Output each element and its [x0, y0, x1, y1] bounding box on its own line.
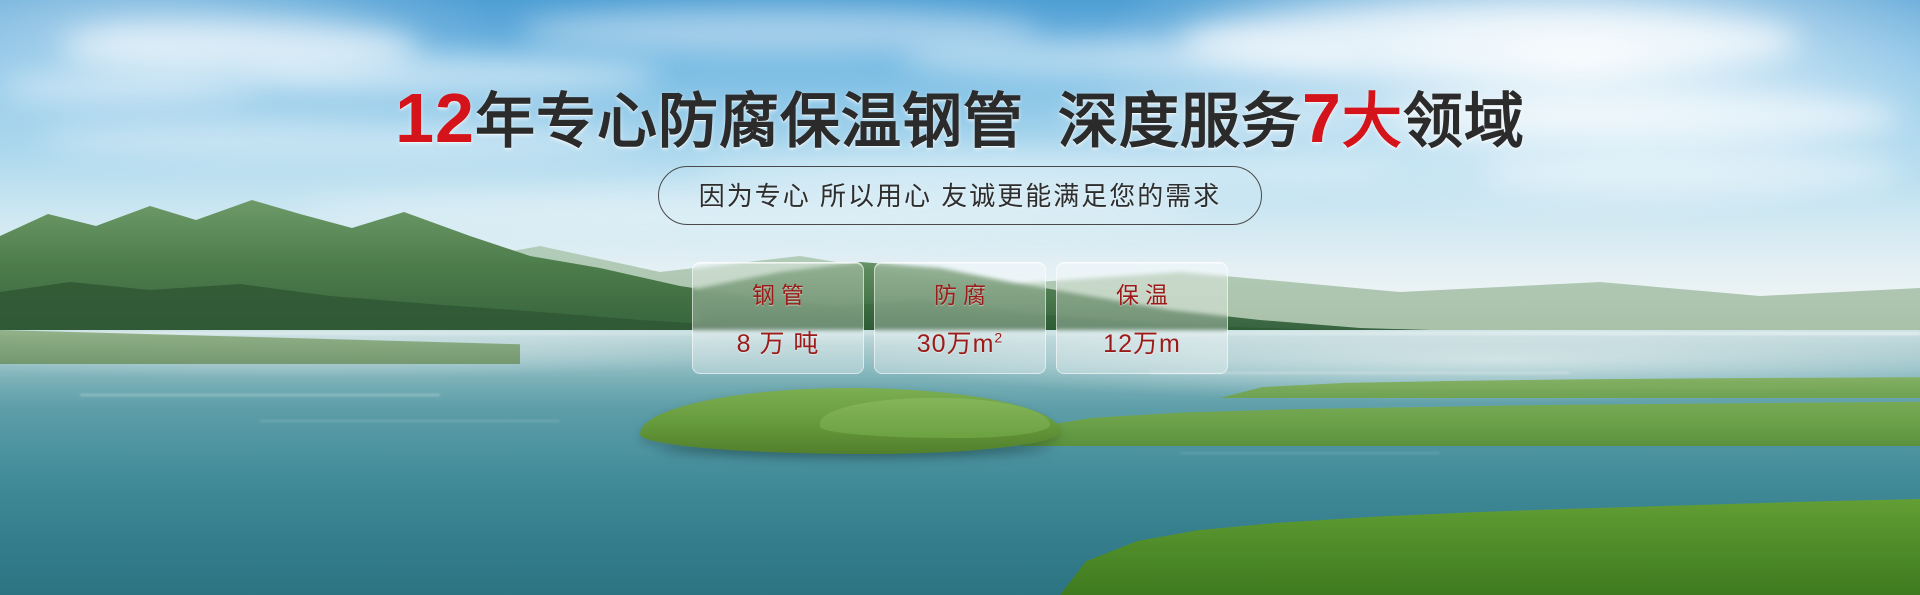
- stat-value-text: 8 万 吨: [737, 330, 820, 358]
- banner-content: 12年专心防腐保温钢管深度服务7大领域 因为专心 所以用心 友诚更能满足您的需求…: [0, 0, 1920, 595]
- page-title: 12年专心防腐保温钢管深度服务7大领域: [0, 83, 1920, 153]
- stat-value-text: 30万m: [917, 330, 995, 358]
- stat-value-text: 12万m: [1103, 330, 1181, 358]
- stat-value-exponent: 2: [994, 330, 1003, 346]
- stat-value: 30万m2: [917, 324, 1003, 360]
- headline-lead-rest: 年专心防腐保温钢管: [475, 88, 1024, 155]
- headline-tail-prefix: 深度服务: [1058, 88, 1302, 155]
- headline-tail-number: 7: [1302, 79, 1342, 157]
- stat-value: 12万m: [1103, 324, 1181, 360]
- stat-card-anticorrosion[interactable]: 防腐 30万m2: [874, 262, 1046, 374]
- subtitle-container: 因为专心 所以用心 友诚更能满足您的需求: [0, 166, 1920, 225]
- stat-card-list: 钢管 8 万 吨 防腐 30万m2 保温 12万m: [0, 262, 1920, 374]
- stat-card-insulation[interactable]: 保温 12万m: [1056, 262, 1228, 374]
- stat-label: 防腐: [928, 276, 992, 310]
- stat-card-steel-pipe[interactable]: 钢管 8 万 吨: [692, 262, 864, 374]
- headline-tail-highlight: 大: [1342, 88, 1403, 155]
- headline-tail-rest: 领域: [1403, 88, 1525, 155]
- subtitle-pill: 因为专心 所以用心 友诚更能满足您的需求: [658, 166, 1262, 225]
- stat-label: 钢管: [746, 276, 810, 310]
- hero-banner: 12年专心防腐保温钢管深度服务7大领域 因为专心 所以用心 友诚更能满足您的需求…: [0, 0, 1920, 595]
- stat-label: 保温: [1110, 276, 1174, 310]
- headline-lead-number: 12: [395, 79, 475, 157]
- stat-value: 8 万 吨: [737, 324, 820, 360]
